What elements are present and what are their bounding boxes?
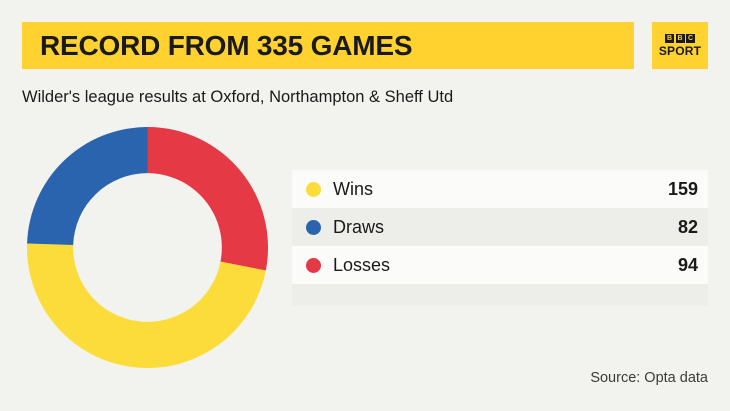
legend-value-losses: 94 xyxy=(678,255,698,276)
legend-value-draws: 82 xyxy=(678,217,698,238)
legend-color-swatch-losses xyxy=(306,258,321,273)
legend-label-wins: Wins xyxy=(333,179,668,200)
donut-slice-draws[interactable] xyxy=(27,127,147,245)
legend-label-losses: Losses xyxy=(333,255,678,276)
source-credit: Source: Opta data xyxy=(590,370,708,386)
bbc-letter-b2: B xyxy=(676,34,685,43)
donut-slice-losses[interactable] xyxy=(148,127,269,270)
legend-color-swatch-draws xyxy=(306,220,321,235)
legend-color-swatch-wins xyxy=(306,182,321,197)
page-subtitle: Wilder's league results at Oxford, North… xyxy=(22,88,453,107)
infographic-page: RECORD FROM 335 GAMES B B C SPORT Wilder… xyxy=(0,0,730,411)
donut-chart xyxy=(27,127,268,368)
legend-row-filler xyxy=(292,284,708,306)
bbc-letter-c: C xyxy=(686,34,695,43)
legend-row-losses[interactable]: Losses 94 xyxy=(292,246,708,284)
bbc-letter-b1: B xyxy=(665,34,674,43)
legend-table: Wins 159 Draws 82 Losses 94 xyxy=(292,170,708,306)
header-banner: RECORD FROM 335 GAMES xyxy=(22,22,634,69)
bbc-letter-blocks: B B C xyxy=(665,34,695,43)
donut-slice-group xyxy=(27,127,268,368)
page-title: RECORD FROM 335 GAMES xyxy=(22,32,412,60)
legend-row-wins[interactable]: Wins 159 xyxy=(292,170,708,208)
bbc-sport-logo: B B C SPORT xyxy=(652,22,708,69)
legend-value-wins: 159 xyxy=(668,179,698,200)
bbc-sport-wordmark: SPORT xyxy=(659,45,701,57)
donut-chart-svg xyxy=(27,127,268,368)
legend-row-draws[interactable]: Draws 82 xyxy=(292,208,708,246)
legend-label-draws: Draws xyxy=(333,217,678,238)
